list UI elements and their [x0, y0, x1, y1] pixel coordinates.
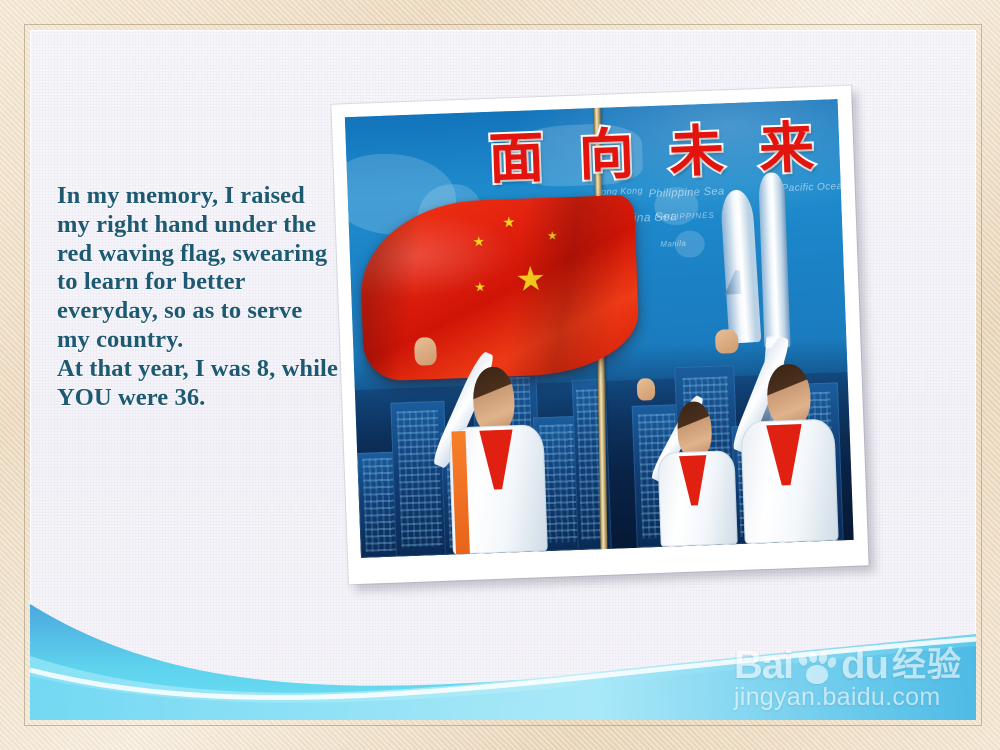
shuttle-wing: [723, 269, 742, 295]
map-label: PHILIPPINES: [654, 210, 715, 221]
photo-image: INDIA SRI LANKA Hong Kong South China Se…: [345, 99, 854, 558]
body-line: At that year, I was 8, while: [57, 355, 357, 384]
watermark-brand-tail: du: [841, 645, 888, 685]
flag-star-large: ★: [515, 262, 547, 297]
paw-icon: [797, 651, 837, 685]
hand: [414, 337, 437, 365]
body-line: my right hand under the: [57, 211, 357, 240]
slide-outer-frame: In my memory, I raised my right hand und…: [0, 0, 1000, 750]
baidu-watermark: Bai du 经验 jingyan.baidu.com: [734, 645, 962, 712]
flag-star-small: ★: [502, 215, 516, 230]
watermark-brand: Bai: [734, 645, 793, 685]
child-right-saluting: [718, 337, 844, 544]
body-line: red waving flag, swearing: [57, 240, 357, 269]
body-line: YOU were 36.: [57, 384, 357, 413]
flag-star-small: ★: [472, 236, 485, 250]
map-label: Manila: [660, 239, 686, 249]
child-left-saluting: [422, 339, 558, 555]
slide-body-text: In my memory, I raised my right hand und…: [57, 182, 357, 412]
shuttle-orbiter: [720, 189, 761, 344]
body-line: to learn for better: [57, 268, 357, 297]
body-line: In my memory, I raised: [57, 182, 357, 211]
body-line: my country.: [57, 326, 357, 355]
body-line: everyday, so as to serve: [57, 297, 357, 326]
photo-title-chinese: 面 向 未 来: [488, 120, 823, 187]
rocket-booster: [758, 172, 790, 348]
hand: [637, 378, 656, 400]
watermark-brand-cn: 经验: [892, 645, 962, 685]
baidu-logo: Bai du 经验: [734, 645, 962, 685]
flag-star-small: ★: [474, 281, 486, 294]
flag-star-small: ★: [547, 229, 558, 241]
watermark-url: jingyan.baidu.com: [734, 683, 962, 712]
hand: [715, 329, 738, 354]
photo-card: INDIA SRI LANKA Hong Kong South China Se…: [331, 86, 868, 585]
slide-canvas: In my memory, I raised my right hand und…: [30, 30, 976, 720]
